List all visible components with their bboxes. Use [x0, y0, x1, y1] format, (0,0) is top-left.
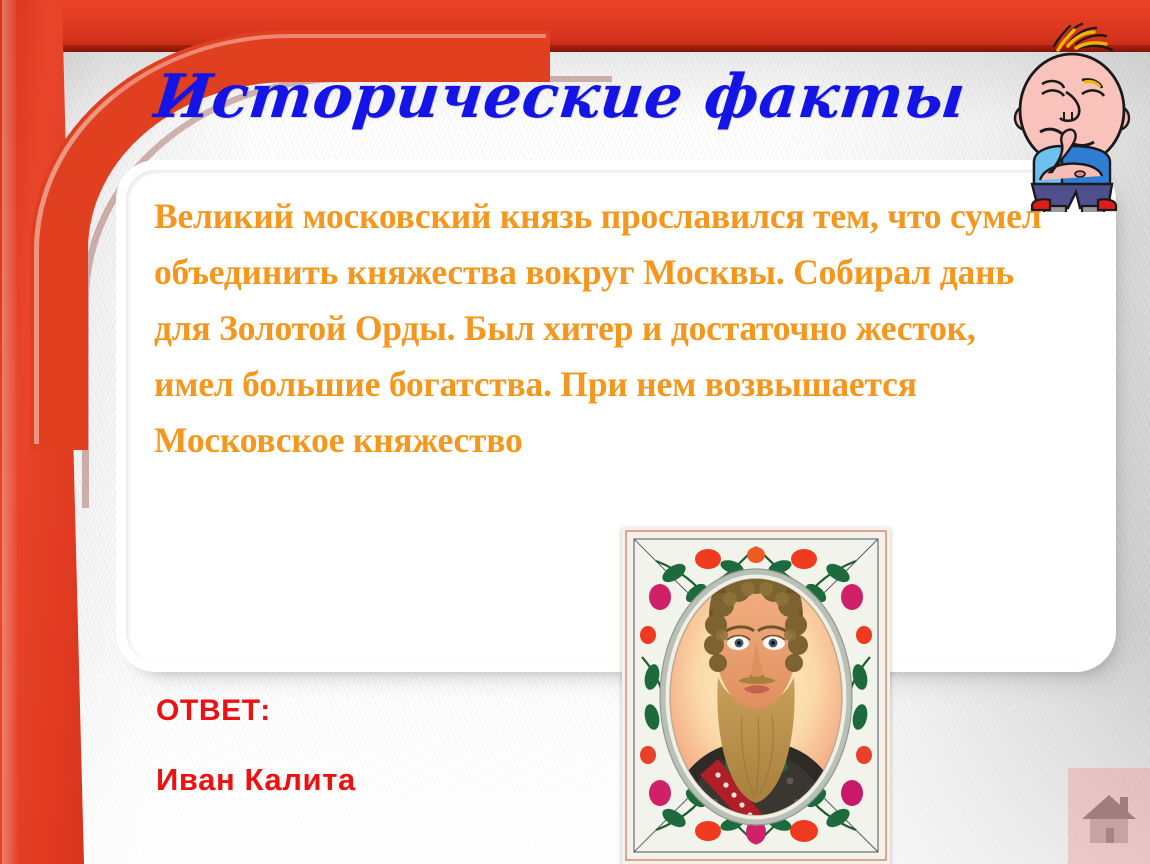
slide-root: Исторические факты Великий московский кн…	[0, 0, 1150, 864]
frame-top-band	[0, 0, 1150, 52]
home-icon	[1080, 792, 1138, 844]
frame-left-sheen	[2, 0, 18, 864]
home-button[interactable]	[1068, 768, 1150, 864]
thinking-boy-icon	[1006, 22, 1146, 212]
page-title: Исторические факты	[147, 66, 974, 129]
ivan-kalita-portrait	[622, 527, 890, 864]
answer-value: Иван Калита	[156, 762, 356, 798]
content-card: Великий московский князь прославился тем…	[126, 170, 1106, 662]
fact-text: Великий московский князь прославился тем…	[154, 188, 1054, 468]
answer-label: ОТВЕТ:	[156, 694, 271, 728]
